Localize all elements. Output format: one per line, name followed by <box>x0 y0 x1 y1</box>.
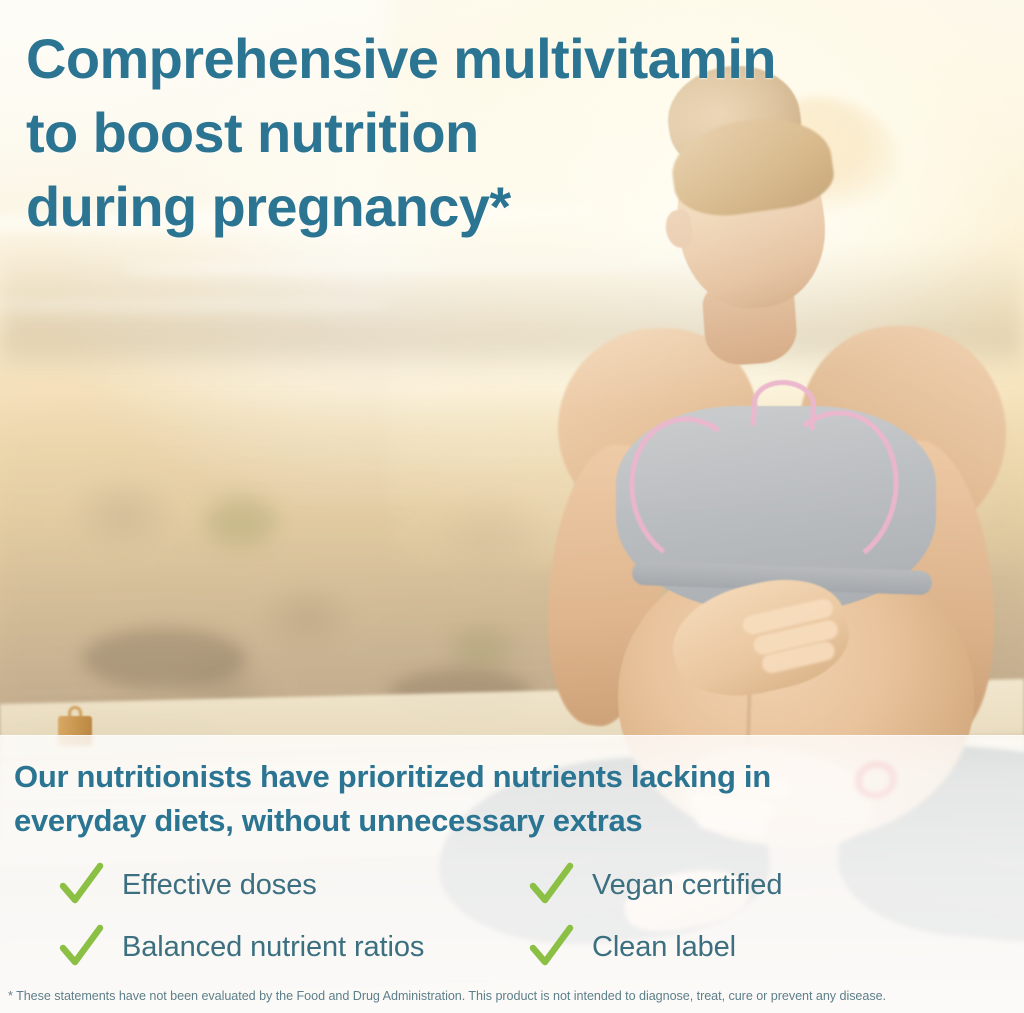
benefit-item-effective-doses: Effective doses <box>58 862 317 908</box>
check-icon <box>528 862 574 908</box>
headline-line-3: during pregnancy* <box>26 170 926 244</box>
rock-shadow <box>82 628 246 689</box>
benefits-list: Effective doses Vegan certified Balanced… <box>0 862 1024 978</box>
benefit-label: Effective doses <box>122 868 317 902</box>
benefit-item-clean-label: Clean label <box>528 924 736 970</box>
product-marketing-image: Comprehensive multivitamin to boost nutr… <box>0 0 1024 1013</box>
page-title: Comprehensive multivitamin to boost nutr… <box>26 22 926 244</box>
shrub <box>205 496 277 547</box>
benefit-item-vegan-certified: Vegan certified <box>528 862 782 908</box>
check-icon <box>58 924 104 970</box>
subheadline: Our nutritionists have prioritized nutri… <box>14 755 1014 843</box>
subheadline-line-2: everyday diets, without unnecessary extr… <box>14 799 1014 843</box>
benefit-label: Clean label <box>592 930 736 964</box>
subheadline-line-1: Our nutritionists have prioritized nutri… <box>14 755 1014 799</box>
check-icon <box>58 862 104 908</box>
check-icon <box>528 924 574 970</box>
headline-line-1: Comprehensive multivitamin <box>26 22 926 96</box>
benefit-label: Balanced nutrient ratios <box>122 930 424 964</box>
benefit-label: Vegan certified <box>592 868 782 902</box>
benefit-item-balanced-nutrient-ratios: Balanced nutrient ratios <box>58 924 424 970</box>
panel-top-edge <box>0 735 1024 736</box>
fda-disclaimer: * These statements have not been evaluat… <box>8 988 1020 1004</box>
headline-line-2: to boost nutrition <box>26 96 926 170</box>
